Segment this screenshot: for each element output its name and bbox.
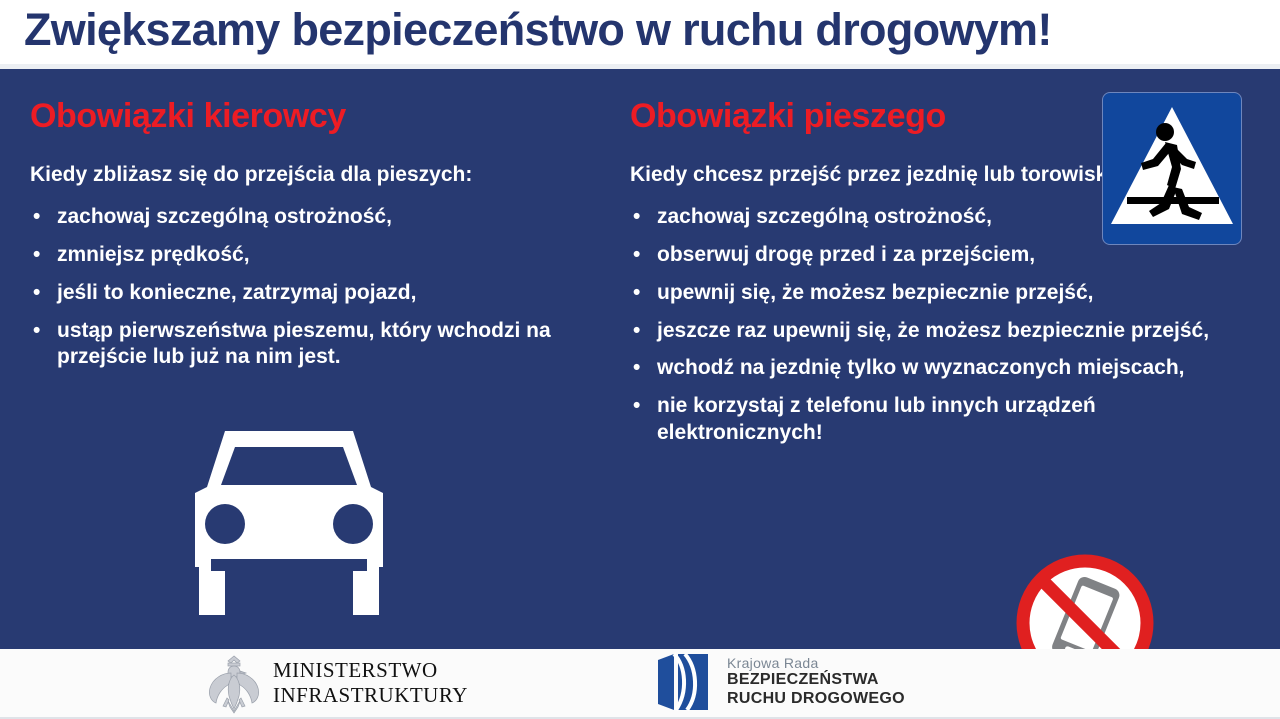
list-item: • ustąp pierwszeństwa pieszemu, który wc… xyxy=(30,318,600,372)
bullet-marker: • xyxy=(33,242,40,269)
bullet-marker: • xyxy=(33,204,40,231)
car-front-icon xyxy=(163,417,413,629)
list-item-text: upewnij się, że możesz bezpiecznie przej… xyxy=(657,281,1093,304)
driver-duties-column: Obowiązki kierowcy Kiedy zbliżasz się do… xyxy=(30,99,600,382)
polish-eagle-emblem-icon xyxy=(205,651,263,715)
list-item: • nie korzystaj z telefonu lub innych ur… xyxy=(630,393,1220,447)
list-item-text: nie korzystaj z telefonu lub innych urzą… xyxy=(657,394,1096,444)
ministry-of-infrastructure-logo: MINISTERSTWO INFRASTRUKTURY xyxy=(205,651,468,715)
bullet-marker: • xyxy=(33,280,40,307)
list-item-text: ustąp pierwszeństwa pieszemu, który wcho… xyxy=(57,319,551,369)
pedestrian-crossing-sign-icon xyxy=(1102,92,1242,245)
list-item: • zmniejsz prędkość, xyxy=(30,242,600,269)
bullet-marker: • xyxy=(633,280,640,307)
list-item-text: wchodź na jezdnię tylko w wyznaczonych m… xyxy=(657,356,1184,379)
krbrd-logo-icon xyxy=(652,650,714,714)
list-item: • obserwuj drogę przed i za przejściem, xyxy=(630,242,1220,269)
list-item: • upewnij się, że możesz bezpiecznie prz… xyxy=(630,280,1220,307)
council-name-line1: Krajowa Rada xyxy=(727,655,905,672)
driver-duties-heading: Obowiązki kierowcy xyxy=(30,99,600,135)
bullet-marker: • xyxy=(33,318,40,345)
list-item: • wchodź na jezdnię tylko w wyznaczonych… xyxy=(630,355,1220,382)
bullet-marker: • xyxy=(633,393,640,420)
list-item-text: zachowaj szczególną ostrożność, xyxy=(657,205,992,228)
road-safety-infographic: Zwiększamy bezpieczeństwo w ruchu drogow… xyxy=(0,0,1280,719)
ministry-name-line2: INFRASTRUKTURY xyxy=(273,683,468,708)
ministry-name: MINISTERSTWO INFRASTRUKTURY xyxy=(273,658,468,708)
header-band: Zwiększamy bezpieczeństwo w ruchu drogow… xyxy=(0,0,1280,64)
list-item-text: jeśli to konieczne, zatrzymaj pojazd, xyxy=(57,281,416,304)
bullet-marker: • xyxy=(633,204,640,231)
ministry-name-line1: MINISTERSTWO xyxy=(273,658,468,683)
list-item: • jeśli to konieczne, zatrzymaj pojazd, xyxy=(30,280,600,307)
bullet-marker: • xyxy=(633,242,640,269)
page-title: Zwiększamy bezpieczeństwo w ruchu drogow… xyxy=(24,4,1052,56)
driver-duties-intro: Kiedy zbliżasz się do przejścia dla pies… xyxy=(30,161,600,188)
list-item: • zachowaj szczególną ostrożność, xyxy=(30,204,600,231)
list-item-text: zmniejsz prędkość, xyxy=(57,243,250,266)
list-item-text: jeszcze raz upewnij się, że możesz bezpi… xyxy=(657,319,1209,342)
list-item: • jeszcze raz upewnij się, że możesz bez… xyxy=(630,318,1220,345)
bullet-marker: • xyxy=(633,318,640,345)
bullet-marker: • xyxy=(633,355,640,382)
list-item-text: zachowaj szczególną ostrożność, xyxy=(57,205,392,228)
council-name: Krajowa Rada BEZPIECZEŃSTWA RUCHU DROGOW… xyxy=(727,655,905,709)
list-item-text: obserwuj drogę przed i za przejściem, xyxy=(657,243,1035,266)
driver-duties-list: • zachowaj szczególną ostrożność, • zmni… xyxy=(30,204,600,371)
road-safety-council-logo: Krajowa Rada BEZPIECZEŃSTWA RUCHU DROGOW… xyxy=(652,650,905,714)
council-name-line2: BEZPIECZEŃSTWA xyxy=(727,671,905,690)
footer-band xyxy=(0,649,1280,719)
council-name-line3: RUCHU DROGOWEGO xyxy=(727,690,905,709)
